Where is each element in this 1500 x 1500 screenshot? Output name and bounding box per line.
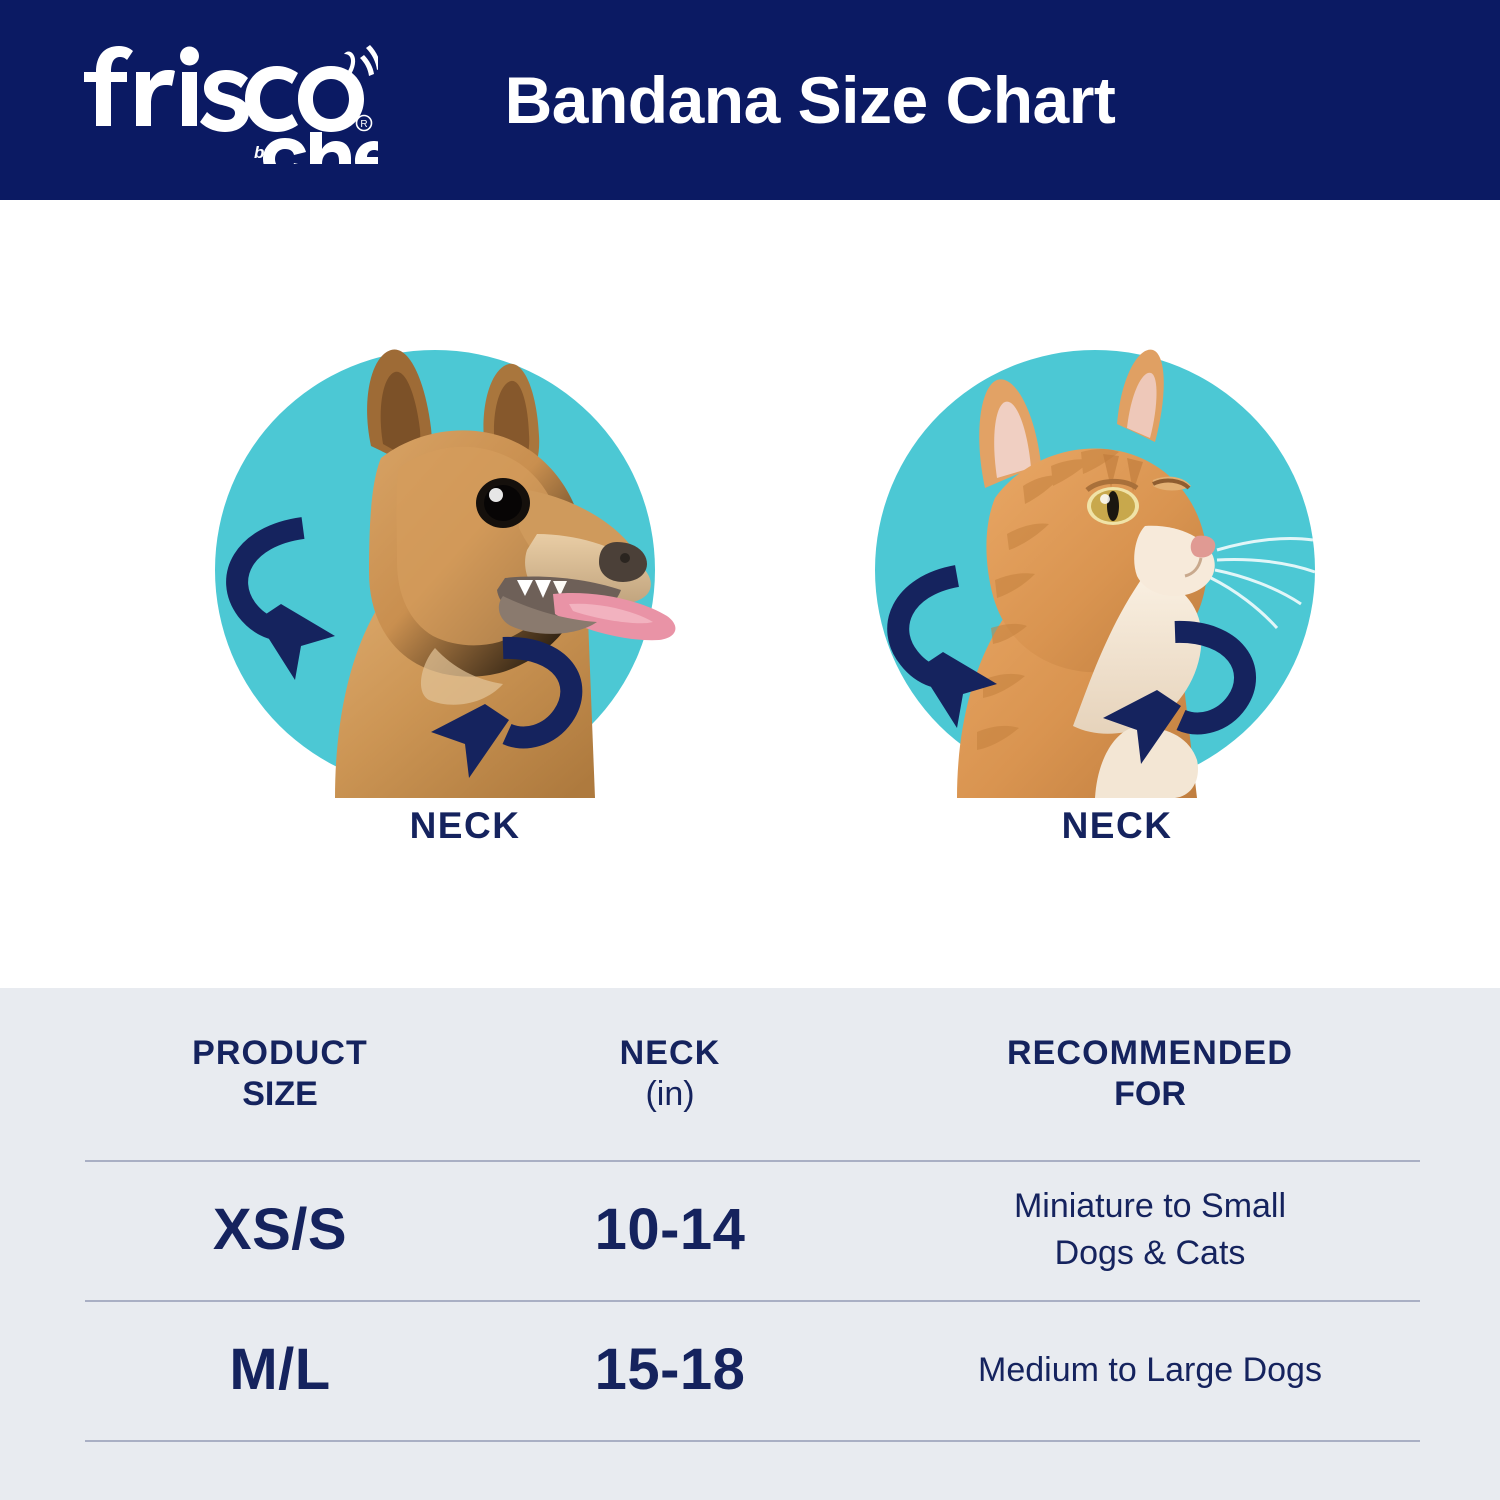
column-header-product-size-line1: PRODUCT	[192, 1034, 368, 1072]
cell-recommended-for-line2: Dogs & Cats	[860, 1230, 1440, 1277]
cell-neck: 15-18	[480, 1338, 860, 1402]
cell-recommended-for: Miniature to Small Dogs & Cats	[860, 1183, 1500, 1277]
cell-recommended-for: Medium to Large Dogs	[860, 1347, 1500, 1394]
table-row: M/L 15-18 Medium to Large Dogs	[0, 1300, 1500, 1440]
column-header-neck-unit: (in)	[480, 1074, 860, 1115]
header-band: R by Bandana Size Chart	[0, 0, 1500, 200]
cell-product-size: M/L	[0, 1338, 480, 1402]
cat-circle-stage	[875, 350, 1315, 790]
cat-neck-label: NECK	[835, 805, 1355, 847]
column-header-recommended-for: RECOMMENDED FOR	[860, 1033, 1500, 1116]
dog-illustration-block: NECK	[175, 350, 695, 890]
cat-head-icon	[845, 328, 1345, 808]
column-header-neck: NECK (in)	[480, 1033, 860, 1116]
table-row: XS/S 10-14 Miniature to Small Dogs & Cat…	[0, 1160, 1500, 1300]
cat-illustration-block: NECK	[835, 350, 1355, 890]
table-divider	[85, 1440, 1420, 1442]
dog-neck-label: NECK	[175, 805, 695, 847]
dog-circle-stage	[215, 350, 655, 790]
dog-head-icon	[185, 328, 685, 808]
column-header-neck-line1: NECK	[620, 1034, 721, 1072]
table-header-row: PRODUCT SIZE NECK (in) RECOMMENDED FOR	[0, 1014, 1500, 1134]
column-header-recommended-for-line1: RECOMMENDED	[1007, 1034, 1293, 1072]
column-header-product-size-line2: SIZE	[80, 1074, 480, 1115]
column-header-recommended-for-line2: FOR	[860, 1074, 1440, 1115]
cell-product-size: XS/S	[0, 1198, 480, 1262]
whiskers	[1211, 538, 1315, 628]
bandana-size-chart-page: R by Bandana Size Chart	[0, 0, 1500, 1500]
cell-neck: 10-14	[480, 1198, 860, 1262]
illustration-area: NECK	[0, 200, 1500, 988]
page-title: Bandana Size Chart	[0, 0, 1500, 200]
column-header-product-size: PRODUCT SIZE	[0, 1033, 480, 1116]
size-chart-table: PRODUCT SIZE NECK (in) RECOMMENDED FOR X…	[0, 988, 1500, 1500]
cell-recommended-for-line1: Medium to Large Dogs	[860, 1347, 1440, 1394]
cell-recommended-for-line1: Miniature to Small	[860, 1183, 1440, 1230]
